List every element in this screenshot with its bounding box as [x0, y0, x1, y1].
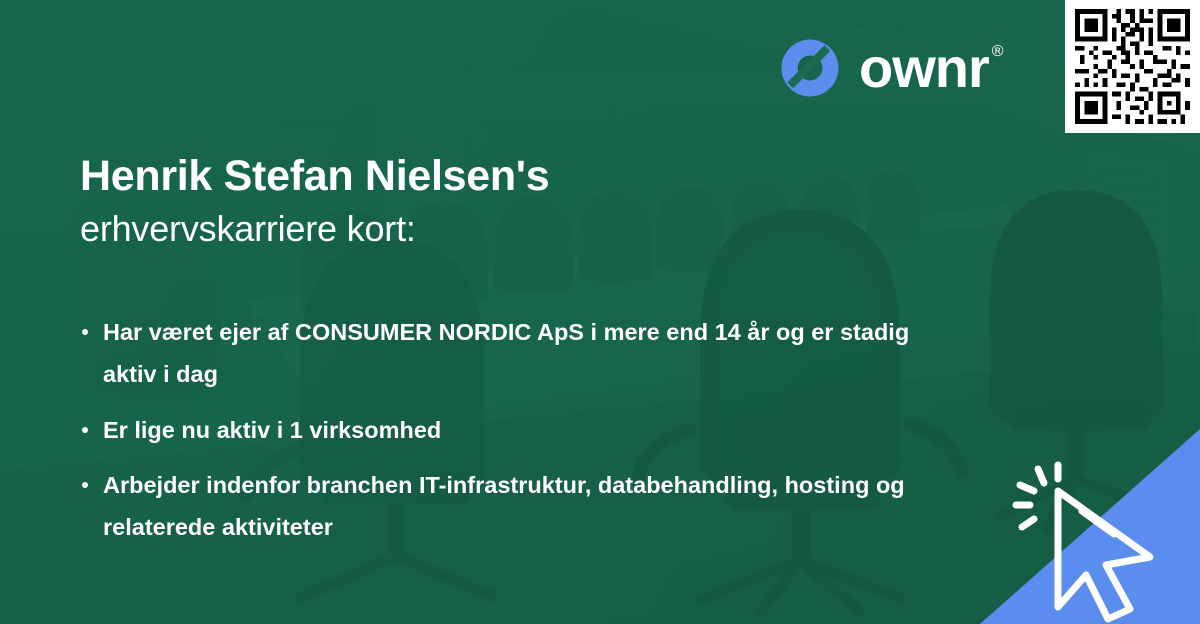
career-facts-list: Har været ejer af CONSUMER NORDIC ApS i …	[80, 312, 950, 549]
list-item: Er lige nu aktiv i 1 virksomhed	[80, 410, 950, 452]
page-title: Henrik Stefan Nielsen's erhvervskarriere…	[80, 152, 920, 250]
blue-triangle	[980, 429, 1200, 624]
business-career-card: ownr ® Henrik Stefan Nielsen's erhvervsk…	[0, 0, 1200, 624]
corner-wedge	[980, 429, 1200, 624]
logo-text: ownr	[859, 40, 989, 96]
qr-code[interactable]	[1065, 0, 1200, 133]
list-item-text: Arbejder indenfor branchen IT-infrastruk…	[103, 472, 905, 540]
ownr-logo[interactable]: ownr ®	[779, 36, 1003, 100]
list-item-text: Er lige nu aktiv i 1 virksomhed	[103, 417, 441, 443]
list-item: Har været ejer af CONSUMER NORDIC ApS i …	[80, 312, 950, 396]
bullet-dot-icon	[82, 329, 88, 335]
list-item: Arbejder indenfor branchen IT-infrastruk…	[80, 465, 950, 549]
headline-subtitle: erhvervskarriere kort:	[80, 207, 920, 250]
list-item-text: Har været ejer af CONSUMER NORDIC ApS i …	[103, 319, 909, 387]
registered-trademark-icon: ®	[992, 44, 1003, 60]
bullet-dot-icon	[82, 482, 88, 488]
headline-name: Henrik Stefan Nielsen's	[80, 152, 920, 200]
ownr-wordmark: ownr ®	[859, 40, 1003, 96]
bullet-dot-icon	[82, 427, 88, 433]
ownr-swirl-circle-icon	[779, 37, 841, 99]
